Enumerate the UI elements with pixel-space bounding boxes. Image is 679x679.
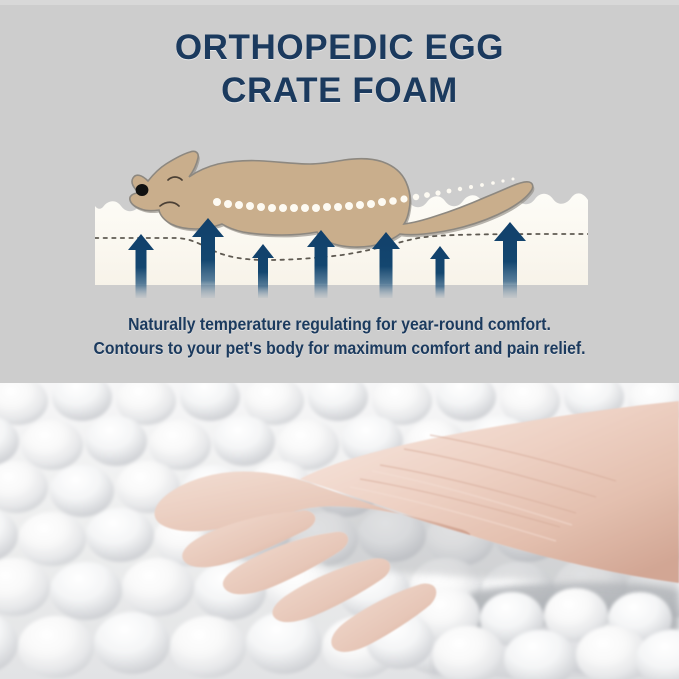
- benefit-line-1: Naturally temperature regulating for yea…: [34, 312, 645, 336]
- top-info-panel: ORTHOPEDIC EGG CRATE FOAM: [0, 0, 679, 383]
- dog-on-foam-illustration: [0, 128, 679, 303]
- egg-crate-foam-photo: [0, 383, 679, 679]
- product-infographic: ORTHOPEDIC EGG CRATE FOAM: [0, 0, 679, 679]
- illustration-svg: [0, 128, 679, 303]
- benefit-text: Naturally temperature regulating for yea…: [34, 312, 645, 360]
- title-line-1: ORTHOPEDIC EGG: [0, 26, 679, 69]
- top-edge-hairline: [0, 0, 679, 5]
- photo-svg: [0, 383, 679, 679]
- page-title: ORTHOPEDIC EGG CRATE FOAM: [0, 26, 679, 112]
- dog-nose-icon: [136, 184, 149, 196]
- title-line-2: CRATE FOAM: [0, 69, 679, 112]
- benefit-line-2: Contours to your pet's body for maximum …: [34, 336, 645, 360]
